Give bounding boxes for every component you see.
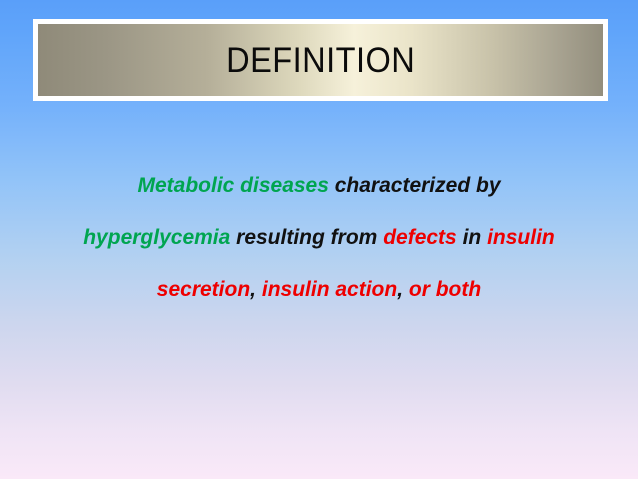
slide-title-plaque: DEFINITION [33, 19, 608, 101]
text-run: or both [409, 278, 481, 301]
text-run: characterized by [335, 174, 501, 197]
text-run: insulin action [262, 278, 397, 301]
body-line-3: secretion, insulin action, or both [0, 264, 638, 316]
body-line-1: Metabolic diseases characterized by [0, 160, 638, 212]
text-run: hyperglycemia [83, 226, 230, 249]
slide-canvas: DEFINITION Metabolic diseases characteri… [0, 0, 638, 479]
page-title: DEFINITION [226, 43, 415, 78]
text-run: resulting from [236, 226, 377, 249]
text-run: Metabolic diseases [137, 174, 328, 197]
text-run: defects [383, 226, 457, 249]
body-line-2: hyperglycemia resulting from defects in … [0, 212, 638, 264]
text-run: insulin [487, 226, 555, 249]
text-run: in [463, 226, 482, 249]
text-run: secretion [157, 278, 250, 301]
slide-body-text: Metabolic diseases characterized by hype… [0, 160, 638, 316]
